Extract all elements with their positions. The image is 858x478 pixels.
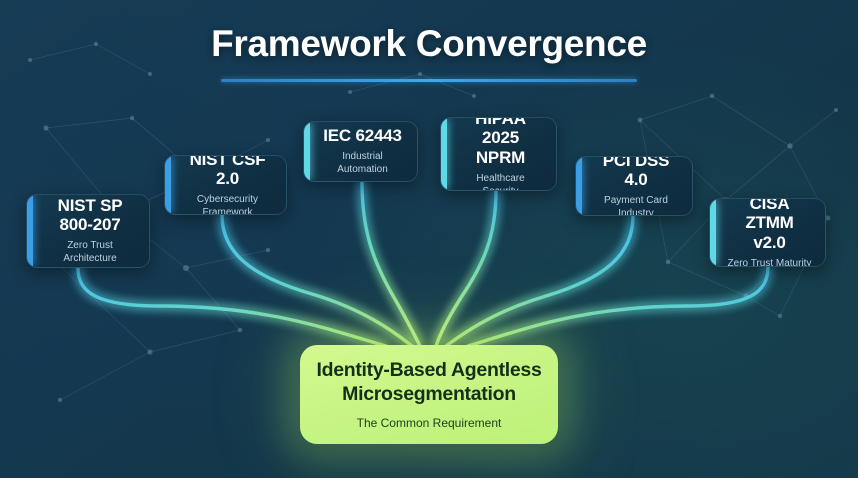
page-title: Framework Convergence: [0, 24, 858, 65]
card-accent-bar: [27, 195, 33, 267]
framework-card-title: IEC 62443: [323, 126, 402, 145]
framework-card-subtitle: Cybersecurity Framework: [181, 193, 274, 215]
card-accent-bar: [710, 199, 716, 266]
framework-card-cisa-ztmm-v2-0[interactable]: CISA ZTMM v2.0 Zero Trust Maturity: [709, 198, 826, 267]
title-block: Framework Convergence: [0, 24, 858, 82]
title-underline: [221, 79, 637, 82]
framework-card-subtitle: Healthcare Security: [457, 172, 544, 191]
convergence-node[interactable]: Identity-Based Agentless Microsegmentati…: [300, 345, 558, 444]
card-accent-bar: [441, 118, 447, 190]
framework-card-subtitle: Zero Trust Maturity: [728, 257, 812, 267]
framework-card-title: PCI DSS 4.0: [592, 156, 680, 189]
convergence-node-subtitle: The Common Requirement: [357, 416, 502, 430]
framework-card-subtitle: Payment Card Industry: [592, 194, 680, 216]
framework-card-nist-sp-800-207[interactable]: NIST SP 800-207 Zero Trust Architecture: [26, 194, 150, 268]
card-accent-bar: [304, 122, 310, 181]
framework-card-subtitle: Industrial Automation: [320, 150, 405, 176]
diagram-canvas: Framework Convergence NIST SP 800-207 Ze…: [0, 0, 858, 478]
card-accent-bar: [165, 156, 171, 214]
card-accent-bar: [576, 157, 582, 215]
framework-card-title: CISA ZTMM v2.0: [726, 198, 813, 252]
framework-card-hipaa-2025-nprm[interactable]: HIPAA 2025 NPRM Healthcare Security: [440, 117, 557, 191]
framework-card-iec-62443[interactable]: IEC 62443 Industrial Automation: [303, 121, 418, 182]
framework-card-title: NIST CSF 2.0: [181, 155, 274, 188]
framework-card-title: NIST SP 800-207: [58, 196, 123, 235]
convergence-node-title: Identity-Based Agentless Microsegmentati…: [316, 359, 541, 407]
framework-card-title: HIPAA 2025 NPRM: [457, 117, 544, 167]
framework-card-pci-dss-4-0[interactable]: PCI DSS 4.0 Payment Card Industry: [575, 156, 693, 216]
framework-card-nist-csf-2-0[interactable]: NIST CSF 2.0 Cybersecurity Framework: [164, 155, 287, 215]
framework-card-subtitle: Zero Trust Architecture: [43, 239, 137, 265]
